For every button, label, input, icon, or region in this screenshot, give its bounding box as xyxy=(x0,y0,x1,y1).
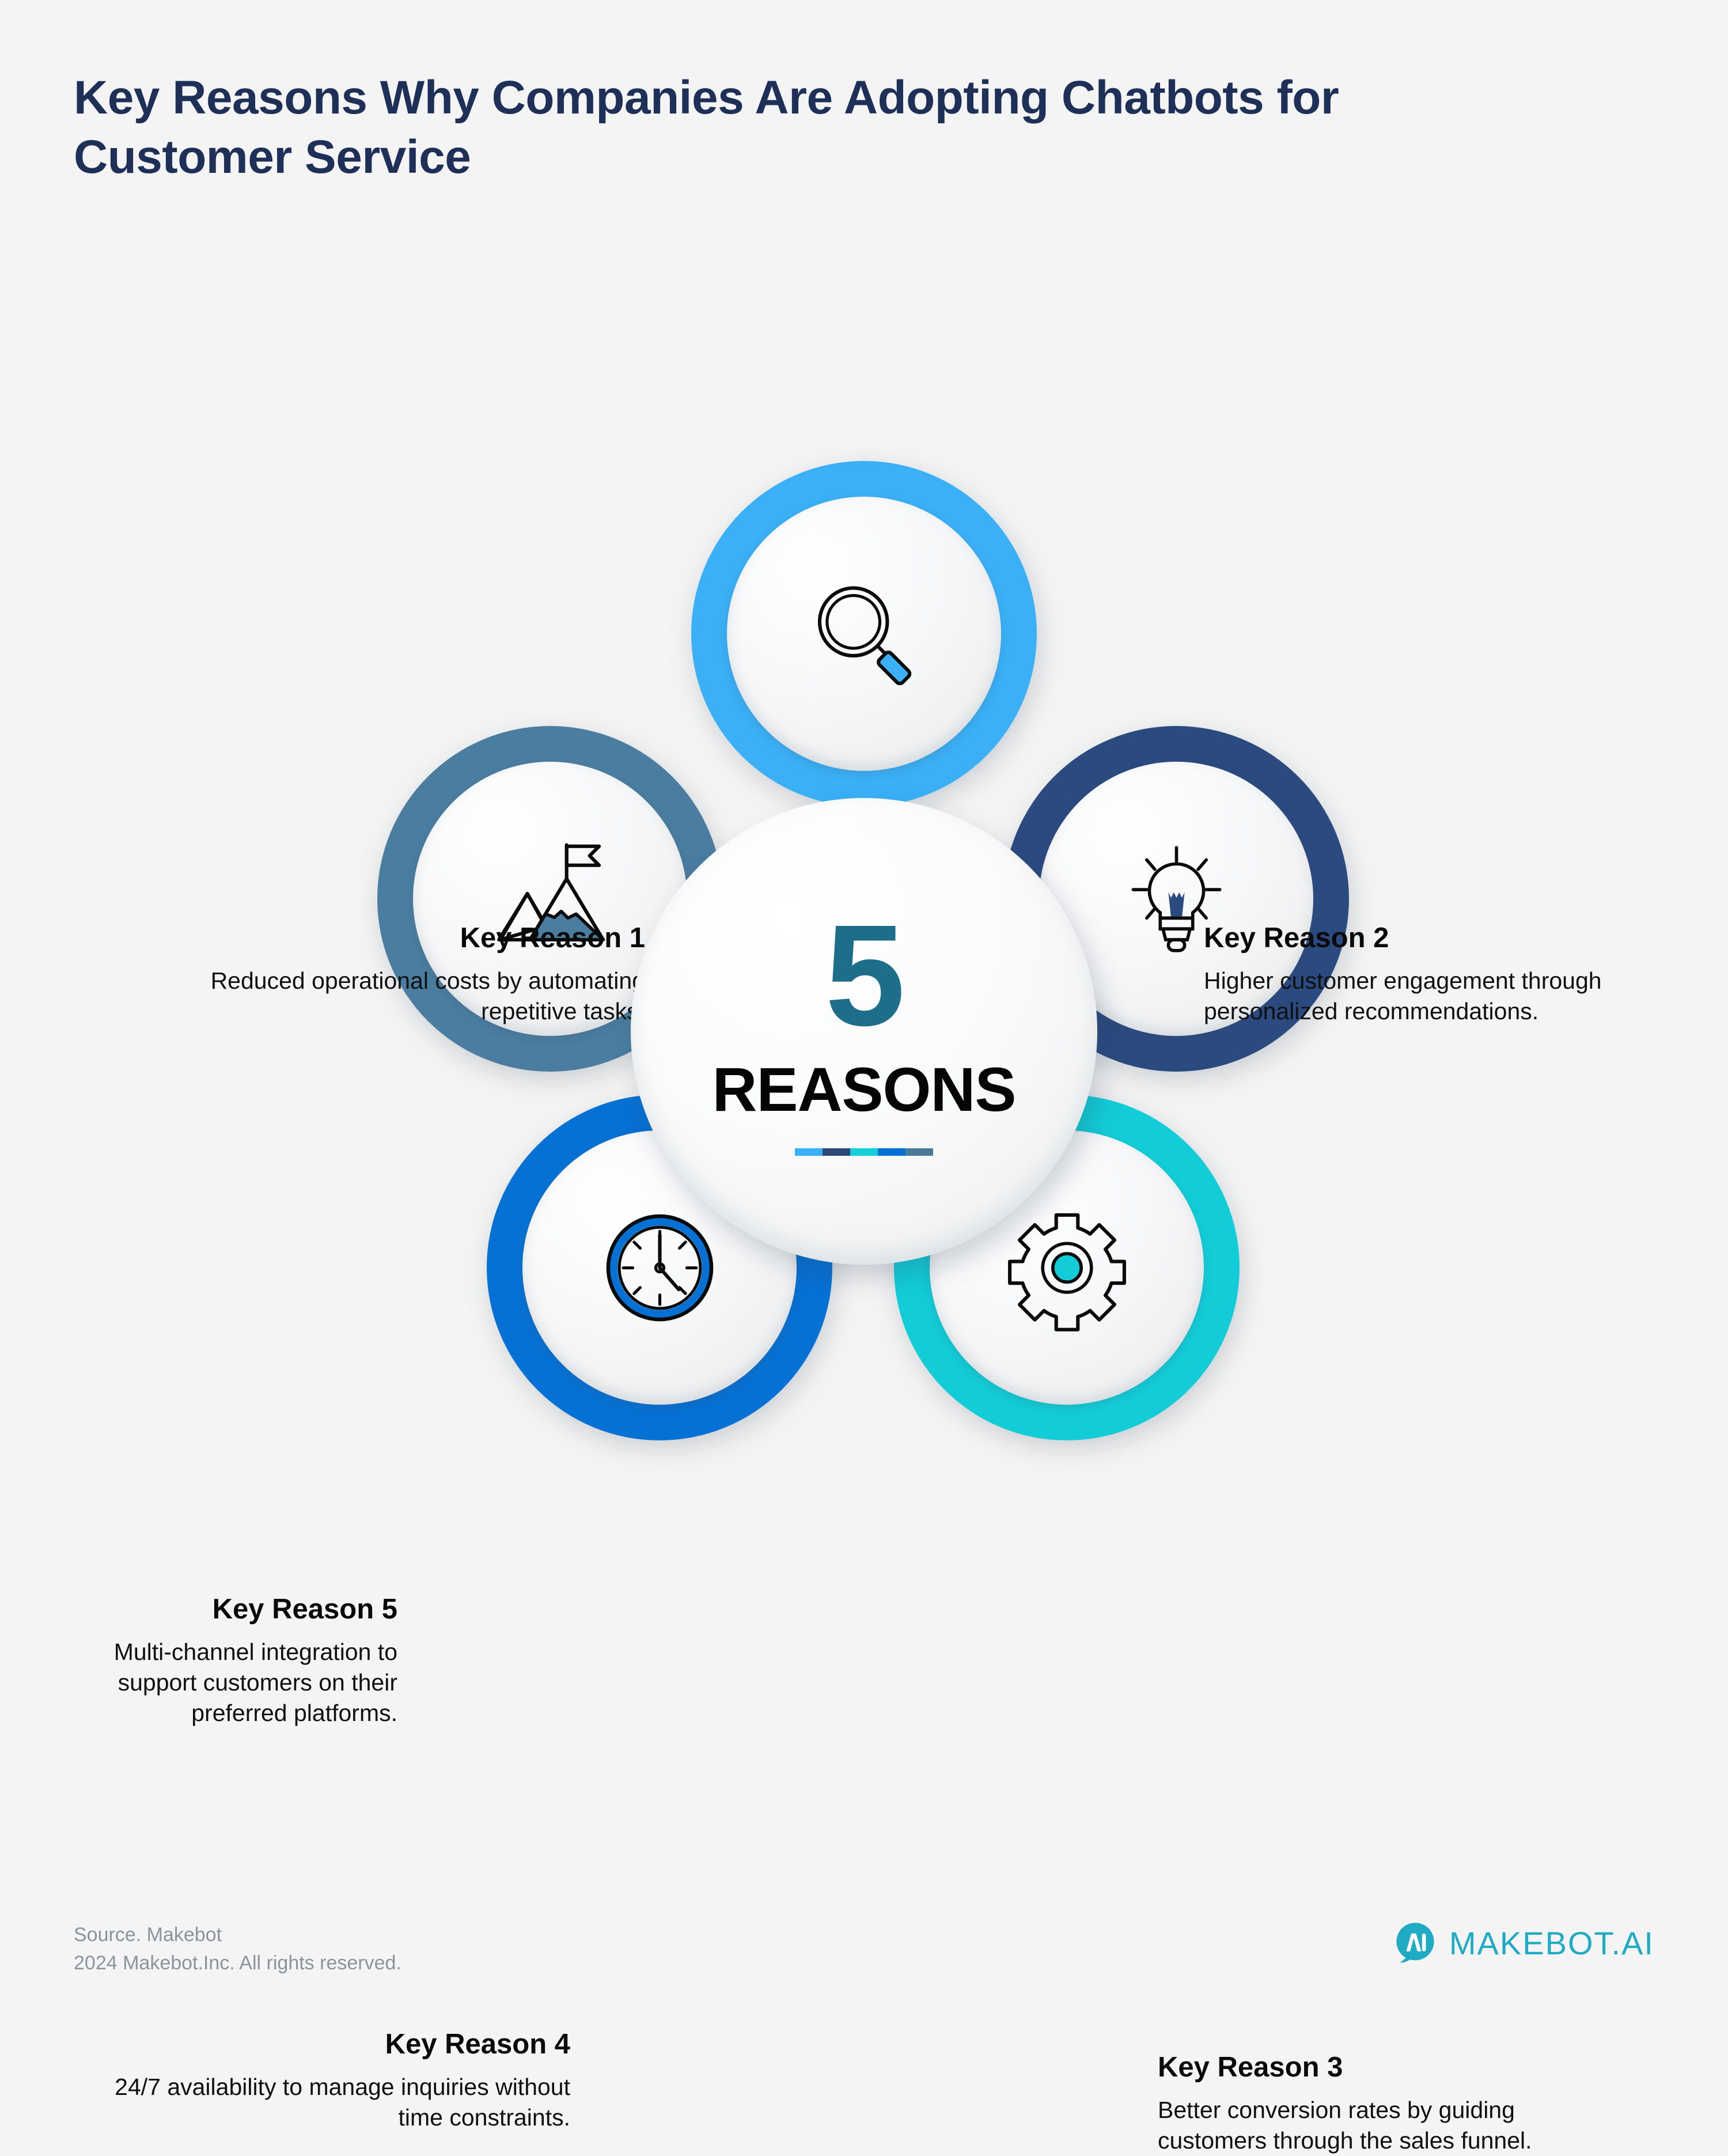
reason-icon-wrap-1 xyxy=(727,497,1001,771)
reason-body-3: Better conversion rates by guiding custo… xyxy=(1158,2095,1607,2156)
page-title: Key Reasons Why Companies Are Adopting C… xyxy=(74,68,1456,187)
reason-body-5: Multi-channel integration to support cus… xyxy=(63,1637,397,1729)
clock-icon xyxy=(592,1200,727,1336)
reason-label-3: Key Reason 3 Better conversion rates by … xyxy=(1158,2051,1607,2156)
reason-circle-1[interactable] xyxy=(691,461,1037,807)
center-number: 5 xyxy=(825,907,903,1044)
bar-segment-3 xyxy=(850,1148,878,1156)
bar-segment-1 xyxy=(795,1148,823,1156)
footer-source-line: Source. Makebot xyxy=(74,1921,401,1949)
reason-body-4: 24/7 availability to manage inquiries wi… xyxy=(109,2072,570,2134)
reason-label-1: Key Reason 1 Reduced operational costs b… xyxy=(173,922,645,1027)
gear-icon xyxy=(999,1200,1135,1336)
reason-title-2: Key Reason 2 xyxy=(1204,922,1630,955)
bar-segment-4 xyxy=(878,1148,905,1156)
center-word: REASONS xyxy=(712,1058,1015,1121)
reason-body-2: Higher customer engagement through perso… xyxy=(1204,966,1630,1027)
reasons-diagram: 5 REASONS Key Reason 1 Reduced operation… xyxy=(0,449,1728,1728)
footer-source-block: Source. Makebot 2024 Makebot.Inc. All ri… xyxy=(74,1921,401,1978)
brand-logo-text: MAKEBOT.AI xyxy=(1449,1924,1654,1962)
center-badge: 5 REASONS xyxy=(631,798,1097,1265)
footer-copyright-line: 2024 Makebot.Inc. All rights reserved. xyxy=(74,1949,401,1977)
makebot-ai-logo-icon xyxy=(1394,1922,1437,1964)
magnifier-icon xyxy=(797,566,932,702)
reason-title-1: Key Reason 1 xyxy=(173,922,645,955)
bar-segment-5 xyxy=(905,1148,933,1156)
reason-label-4: Key Reason 4 24/7 availability to manage… xyxy=(109,2028,570,2133)
bar-segment-2 xyxy=(823,1148,850,1156)
reason-body-1: Reduced operational costs by automating … xyxy=(173,966,645,1027)
reason-label-5: Key Reason 5 Multi-channel integration t… xyxy=(63,1593,397,1729)
reason-label-2: Key Reason 2 Higher customer engagement … xyxy=(1204,922,1630,1027)
reason-title-5: Key Reason 5 xyxy=(63,1593,397,1627)
reason-title-4: Key Reason 4 xyxy=(109,2028,570,2062)
center-color-bar xyxy=(795,1148,933,1156)
reason-title-3: Key Reason 3 xyxy=(1158,2051,1607,2085)
brand-logo: MAKEBOT.AI xyxy=(1394,1922,1654,1964)
